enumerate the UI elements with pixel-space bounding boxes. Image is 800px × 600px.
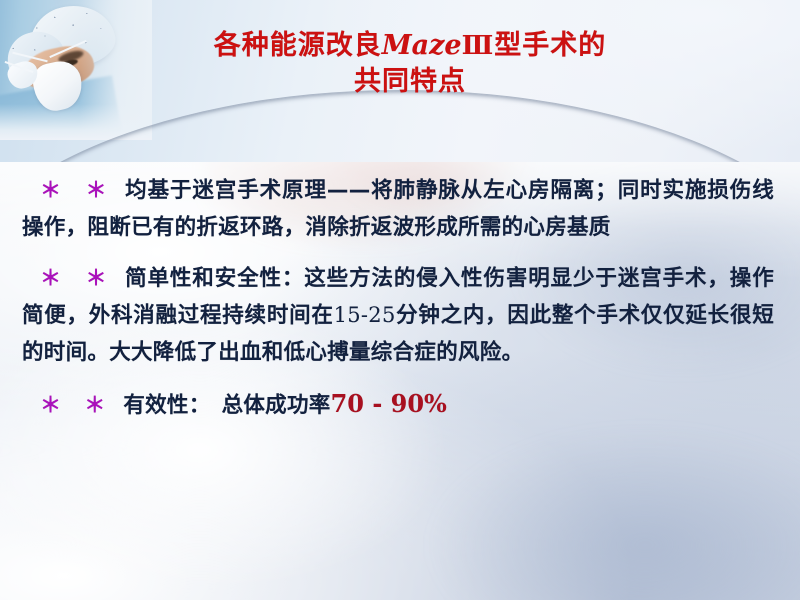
slide-root: 各种能源改良MazeⅢ型手术的 共同特点 ＊ ＊均基于迷宫手术原理——将肺静脉从… [0, 0, 800, 600]
bullet-paragraph-2-duration: 15-25 [334, 303, 396, 327]
bullet-paragraph-1-text: 均基于迷宫手术原理——将肺静脉从左心房隔离；同时实施损伤线操作，阻断已有的折返环… [22, 178, 774, 240]
page-title-suffix: 型手术的 [494, 30, 606, 61]
page-title-line-2: 共同特点 [130, 64, 690, 100]
page-title-prefix: 各种能源改良 [214, 30, 382, 61]
bullet-marker-3: ＊ ＊ [22, 393, 123, 417]
bullet-marker-2: ＊ ＊ [22, 266, 125, 290]
page-title-maze-word: Maze [382, 30, 462, 61]
bullet-marker-1: ＊ ＊ [22, 178, 125, 202]
bullet-paragraph-3: ＊ ＊有效性： 总体成功率70 - 90% [0, 385, 800, 424]
bullet-paragraph-2: ＊ ＊简单性和安全性：这些方法的侵入性伤害明显少于迷宫手术，操作简便，外科消融过… [0, 260, 800, 371]
slide-content: ＊ ＊均基于迷宫手术原理——将肺静脉从左心房隔离；同时实施损伤线操作，阻断已有的… [0, 168, 800, 600]
page-title-line-1: 各种能源改良MazeⅢ型手术的 [130, 28, 690, 64]
bullet-paragraph-1: ＊ ＊均基于迷宫手术原理——将肺静脉从左心房隔离；同时实施损伤线操作，阻断已有的… [0, 172, 800, 246]
bullet-paragraph-3-text: 总体成功率 [200, 393, 331, 418]
bullet-paragraph-3-label: 有效性： [123, 393, 199, 418]
bullet-paragraph-2-label: 简单性和安全性： [125, 266, 304, 291]
success-rate-value: 70 - 90% [331, 389, 447, 418]
page-title: 各种能源改良MazeⅢ型手术的 共同特点 [130, 28, 690, 100]
page-title-roman-numeral: Ⅲ [462, 31, 495, 61]
